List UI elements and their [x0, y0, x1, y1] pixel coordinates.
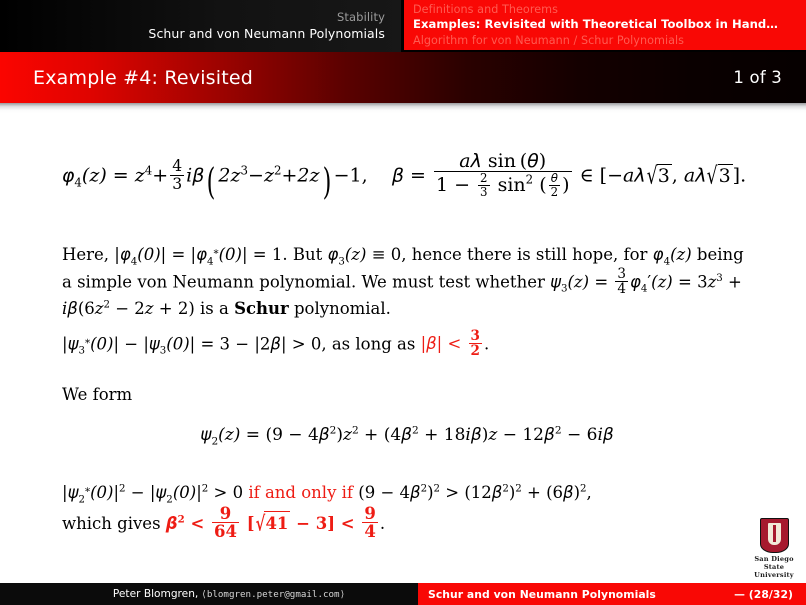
- nav-item-definitions-and-theorems[interactable]: Definitions and Theorems: [413, 2, 806, 18]
- paragraph-psi3-condition: |ψ3⁎(0)| − |ψ3(0)| = 3 − |2β| > 0, as lo…: [62, 329, 752, 359]
- slide-content: φ4(z) = z4+43iβ(2z3−z2+2z)−1, β = aλ sin…: [0, 113, 806, 568]
- footer-author-name: Peter Blomgren,: [113, 588, 198, 600]
- nav-divider: [401, 0, 404, 52]
- phrase-if-and-only-if: if and only if: [248, 483, 353, 502]
- shield-icon: [760, 518, 789, 553]
- nav-item-algorithm[interactable]: Algorithm for von Neumann / Schur Polyno…: [413, 33, 806, 49]
- page-title: Example #4: Revisited: [33, 67, 253, 89]
- nav-right-section: Definitions and Theorems Examples: Revis…: [403, 0, 806, 52]
- title-bar-shadow: [0, 103, 806, 113]
- paragraph-we-form: We form: [62, 383, 752, 407]
- footer-title-section: Schur and von Neumann Polynomials — (28/…: [418, 583, 806, 605]
- logo-line-2: University: [751, 571, 797, 579]
- footer-author-section: Peter Blomgren, ⟨blomgren.peter@gmail.co…: [0, 583, 418, 605]
- slide-title-bar: Example #4: Revisited 1 of 3: [0, 52, 806, 103]
- footer-author-email: ⟨blomgren.peter@gmail.com⟩: [201, 589, 345, 600]
- equation-psi2: ψ2(z) = (9 − 4β2)z2 + (4β2 + 18iβ)z − 12…: [62, 425, 752, 445]
- logo-line-1: San Diego State: [751, 555, 797, 571]
- nav-left-section: Stability Schur and von Neumann Polynomi…: [0, 0, 403, 52]
- footer-presentation-title: Schur and von Neumann Polynomials: [428, 588, 656, 601]
- equation-main: φ4(z) = z4+43iβ(2z3−z2+2z)−1, β = aλ sin…: [14, 151, 794, 203]
- paragraph-final-condition: |ψ2⁎(0)|2 − |ψ2(0)|2 > 0 if and only if …: [62, 481, 752, 541]
- paragraph-here: Here, |φ4(0)| = |φ4⁎(0)| = 1. But φ3(z) …: [62, 243, 752, 321]
- footer-bar: Peter Blomgren, ⟨blomgren.peter@gmail.co…: [0, 583, 806, 605]
- nav-item-examples-revisited[interactable]: Examples: Revisited with Theoretical Too…: [413, 17, 806, 33]
- footer-page-number: — (28/32): [734, 588, 793, 601]
- nav-section-title: Stability: [337, 10, 385, 25]
- sdsu-logo: San Diego State University: [751, 518, 797, 579]
- frame-counter: 1 of 3: [733, 68, 782, 87]
- nav-presentation-title: Schur and von Neumann Polynomials: [148, 25, 385, 42]
